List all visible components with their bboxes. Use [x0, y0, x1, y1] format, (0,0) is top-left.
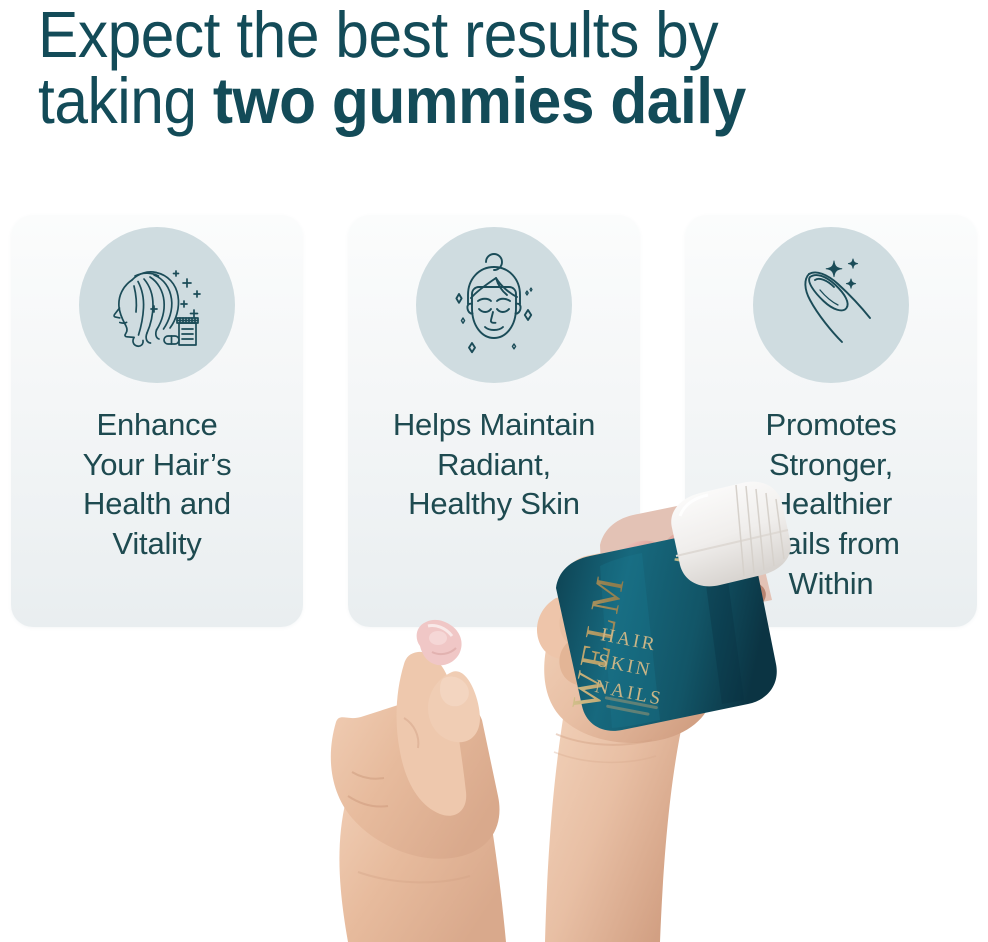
- page-title: Expect the best results by taking two gu…: [38, 2, 894, 135]
- benefit-card-nails-text: Promotes Stronger, Healthier Nails from …: [693, 405, 969, 603]
- promo-image: Expect the best results by taking two gu…: [0, 0, 988, 942]
- svg-text:NAILS: NAILS: [593, 676, 665, 710]
- benefit-card-nails: Promotes Stronger, Healthier Nails from …: [685, 215, 977, 627]
- hair-vitality-icon: [79, 227, 235, 383]
- benefit-card-skin: Helps Maintain Radiant, Healthy Skin: [348, 215, 640, 627]
- benefit-text-on-label: HAIR SKIN NAILS: [589, 624, 675, 710]
- headline-line-2: taking two gummies daily: [38, 68, 894, 134]
- headline-line-2-normal: taking: [38, 64, 213, 137]
- radiant-face-icon: [416, 227, 572, 383]
- benefit-card-list: Enhance Your Hair’s Health and Vitality: [0, 215, 988, 630]
- svg-text:SKIN: SKIN: [596, 650, 654, 681]
- left-hand: [331, 652, 506, 942]
- headline-line-2-emphasis: two gummies daily: [213, 64, 746, 137]
- headline-line-1: Expect the best results by: [38, 2, 894, 68]
- benefit-card-skin-text: Helps Maintain Radiant, Healthy Skin: [356, 405, 632, 524]
- benefit-card-hair: Enhance Your Hair’s Health and Vitality: [11, 215, 303, 627]
- benefit-card-hair-text: Enhance Your Hair’s Health and Vitality: [19, 405, 295, 564]
- strong-nail-icon: [753, 227, 909, 383]
